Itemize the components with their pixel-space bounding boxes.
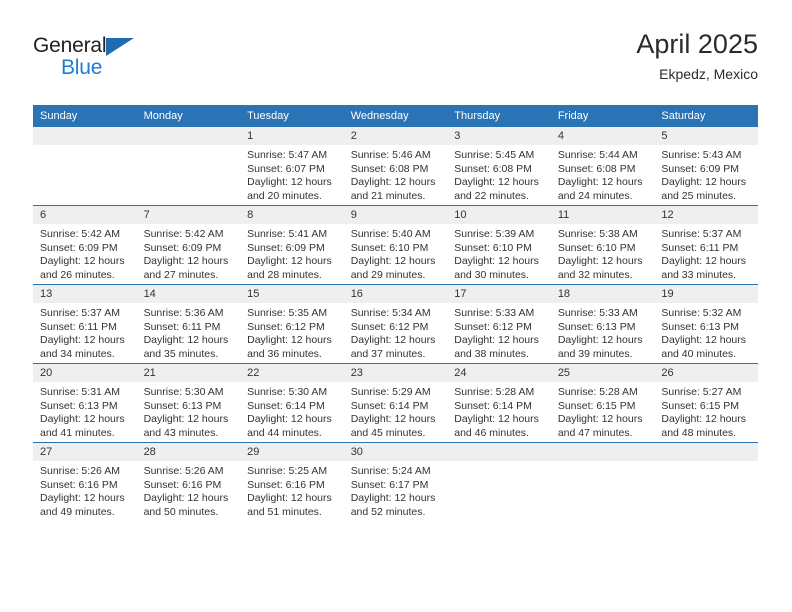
calendar-day-cell[interactable]: 7Sunrise: 5:42 AMSunset: 6:09 PMDaylight… (137, 206, 241, 285)
daylight-text: Daylight: 12 hours and 33 minutes. (661, 255, 753, 282)
calendar-day-cell[interactable]: 27Sunrise: 5:26 AMSunset: 6:16 PMDayligh… (33, 443, 137, 522)
calendar-day-cell[interactable]: 3Sunrise: 5:45 AMSunset: 6:08 PMDaylight… (447, 127, 551, 206)
sunset-text: Sunset: 6:11 PM (144, 321, 236, 335)
calendar-header-row: Sunday Monday Tuesday Wednesday Thursday… (33, 105, 758, 127)
sunset-text: Sunset: 6:13 PM (558, 321, 650, 335)
sunrise-text: Sunrise: 5:27 AM (661, 386, 753, 400)
day-number: 8 (240, 206, 344, 224)
day-details: Sunrise: 5:42 AMSunset: 6:09 PMDaylight:… (137, 224, 241, 282)
calendar-day-cell[interactable]: 18Sunrise: 5:33 AMSunset: 6:13 PMDayligh… (551, 285, 655, 364)
day-details: Sunrise: 5:43 AMSunset: 6:09 PMDaylight:… (654, 145, 758, 203)
calendar-day-cell[interactable]: 21Sunrise: 5:30 AMSunset: 6:13 PMDayligh… (137, 364, 241, 443)
calendar-day-cell[interactable]: 25Sunrise: 5:28 AMSunset: 6:15 PMDayligh… (551, 364, 655, 443)
day-number (33, 127, 137, 145)
day-details: Sunrise: 5:34 AMSunset: 6:12 PMDaylight:… (344, 303, 448, 361)
calendar-day-cell[interactable]: 17Sunrise: 5:33 AMSunset: 6:12 PMDayligh… (447, 285, 551, 364)
weekday-header-thursday: Thursday (447, 105, 551, 127)
day-number (137, 127, 241, 145)
day-number: 19 (654, 285, 758, 303)
sunrise-text: Sunrise: 5:33 AM (454, 307, 546, 321)
sunset-text: Sunset: 6:10 PM (558, 242, 650, 256)
day-details: Sunrise: 5:27 AMSunset: 6:15 PMDaylight:… (654, 382, 758, 440)
sunset-text: Sunset: 6:14 PM (247, 400, 339, 414)
sunset-text: Sunset: 6:11 PM (40, 321, 132, 335)
daylight-text: Daylight: 12 hours and 20 minutes. (247, 176, 339, 203)
day-number: 9 (344, 206, 448, 224)
weekday-header-row: Sunday Monday Tuesday Wednesday Thursday… (33, 105, 758, 127)
day-number: 7 (137, 206, 241, 224)
logo-text-general: General (33, 34, 106, 58)
daylight-text: Daylight: 12 hours and 38 minutes. (454, 334, 546, 361)
daylight-text: Daylight: 12 hours and 36 minutes. (247, 334, 339, 361)
daylight-text: Daylight: 12 hours and 34 minutes. (40, 334, 132, 361)
day-details: Sunrise: 5:46 AMSunset: 6:08 PMDaylight:… (344, 145, 448, 203)
daylight-text: Daylight: 12 hours and 41 minutes. (40, 413, 132, 440)
calendar-day-cell[interactable]: 1Sunrise: 5:47 AMSunset: 6:07 PMDaylight… (240, 127, 344, 206)
day-details: Sunrise: 5:45 AMSunset: 6:08 PMDaylight:… (447, 145, 551, 203)
daylight-text: Daylight: 12 hours and 43 minutes. (144, 413, 236, 440)
sunrise-text: Sunrise: 5:35 AM (247, 307, 339, 321)
day-number: 22 (240, 364, 344, 382)
daylight-text: Daylight: 12 hours and 46 minutes. (454, 413, 546, 440)
day-details: Sunrise: 5:36 AMSunset: 6:11 PMDaylight:… (137, 303, 241, 361)
logo-triangle-icon (106, 38, 134, 56)
daylight-text: Daylight: 12 hours and 51 minutes. (247, 492, 339, 519)
sunset-text: Sunset: 6:17 PM (351, 479, 443, 493)
daylight-text: Daylight: 12 hours and 37 minutes. (351, 334, 443, 361)
sunrise-text: Sunrise: 5:32 AM (661, 307, 753, 321)
daylight-text: Daylight: 12 hours and 29 minutes. (351, 255, 443, 282)
sunset-text: Sunset: 6:10 PM (351, 242, 443, 256)
day-details: Sunrise: 5:42 AMSunset: 6:09 PMDaylight:… (33, 224, 137, 282)
sunrise-text: Sunrise: 5:37 AM (661, 228, 753, 242)
day-number (447, 443, 551, 461)
calendar-day-cell-empty (33, 127, 137, 206)
daylight-text: Daylight: 12 hours and 47 minutes. (558, 413, 650, 440)
day-number: 5 (654, 127, 758, 145)
sunrise-text: Sunrise: 5:31 AM (40, 386, 132, 400)
day-number: 13 (33, 285, 137, 303)
daylight-text: Daylight: 12 hours and 49 minutes. (40, 492, 132, 519)
calendar-week-row: 6Sunrise: 5:42 AMSunset: 6:09 PMDaylight… (33, 206, 758, 285)
day-number: 10 (447, 206, 551, 224)
day-details: Sunrise: 5:32 AMSunset: 6:13 PMDaylight:… (654, 303, 758, 361)
calendar-day-cell[interactable]: 28Sunrise: 5:26 AMSunset: 6:16 PMDayligh… (137, 443, 241, 522)
day-number: 1 (240, 127, 344, 145)
sunset-text: Sunset: 6:09 PM (40, 242, 132, 256)
day-number (551, 443, 655, 461)
day-details: Sunrise: 5:30 AMSunset: 6:14 PMDaylight:… (240, 382, 344, 440)
day-details: Sunrise: 5:29 AMSunset: 6:14 PMDaylight:… (344, 382, 448, 440)
daylight-text: Daylight: 12 hours and 30 minutes. (454, 255, 546, 282)
day-number: 29 (240, 443, 344, 461)
day-number: 27 (33, 443, 137, 461)
daylight-text: Daylight: 12 hours and 45 minutes. (351, 413, 443, 440)
sunrise-text: Sunrise: 5:41 AM (247, 228, 339, 242)
sunset-text: Sunset: 6:08 PM (558, 163, 650, 177)
daylight-text: Daylight: 12 hours and 48 minutes. (661, 413, 753, 440)
daylight-text: Daylight: 12 hours and 25 minutes. (661, 176, 753, 203)
calendar-week-row: 27Sunrise: 5:26 AMSunset: 6:16 PMDayligh… (33, 443, 758, 522)
sunset-text: Sunset: 6:15 PM (661, 400, 753, 414)
sunrise-text: Sunrise: 5:24 AM (351, 465, 443, 479)
daylight-text: Daylight: 12 hours and 22 minutes. (454, 176, 546, 203)
day-details: Sunrise: 5:40 AMSunset: 6:10 PMDaylight:… (344, 224, 448, 282)
sunrise-text: Sunrise: 5:30 AM (247, 386, 339, 400)
day-number: 30 (344, 443, 448, 461)
generalblue-logo: General Blue (33, 34, 213, 86)
sunset-text: Sunset: 6:13 PM (40, 400, 132, 414)
calendar-day-cell[interactable]: 15Sunrise: 5:35 AMSunset: 6:12 PMDayligh… (240, 285, 344, 364)
calendar-day-cell[interactable]: 19Sunrise: 5:32 AMSunset: 6:13 PMDayligh… (654, 285, 758, 364)
calendar-day-cell[interactable]: 9Sunrise: 5:40 AMSunset: 6:10 PMDaylight… (344, 206, 448, 285)
sunset-text: Sunset: 6:16 PM (247, 479, 339, 493)
weekday-header-tuesday: Tuesday (240, 105, 344, 127)
calendar-day-cell[interactable]: 30Sunrise: 5:24 AMSunset: 6:17 PMDayligh… (344, 443, 448, 522)
daylight-text: Daylight: 12 hours and 28 minutes. (247, 255, 339, 282)
sunset-text: Sunset: 6:08 PM (351, 163, 443, 177)
day-details: Sunrise: 5:24 AMSunset: 6:17 PMDaylight:… (344, 461, 448, 519)
day-details: Sunrise: 5:33 AMSunset: 6:13 PMDaylight:… (551, 303, 655, 361)
day-number: 6 (33, 206, 137, 224)
sunrise-text: Sunrise: 5:42 AM (144, 228, 236, 242)
sunset-text: Sunset: 6:12 PM (247, 321, 339, 335)
calendar-week-row: 1Sunrise: 5:47 AMSunset: 6:07 PMDaylight… (33, 127, 758, 206)
day-number: 14 (137, 285, 241, 303)
day-details: Sunrise: 5:37 AMSunset: 6:11 PMDaylight:… (654, 224, 758, 282)
daylight-text: Daylight: 12 hours and 32 minutes. (558, 255, 650, 282)
calendar-day-cell-empty (551, 443, 655, 522)
sunrise-text: Sunrise: 5:44 AM (558, 149, 650, 163)
weekday-header-saturday: Saturday (654, 105, 758, 127)
day-number: 12 (654, 206, 758, 224)
sunset-text: Sunset: 6:09 PM (661, 163, 753, 177)
day-details: Sunrise: 5:41 AMSunset: 6:09 PMDaylight:… (240, 224, 344, 282)
daylight-text: Daylight: 12 hours and 40 minutes. (661, 334, 753, 361)
calendar-day-cell[interactable]: 8Sunrise: 5:41 AMSunset: 6:09 PMDaylight… (240, 206, 344, 285)
sunrise-text: Sunrise: 5:29 AM (351, 386, 443, 400)
daylight-text: Daylight: 12 hours and 27 minutes. (144, 255, 236, 282)
day-number: 3 (447, 127, 551, 145)
calendar-day-cell[interactable]: 5Sunrise: 5:43 AMSunset: 6:09 PMDaylight… (654, 127, 758, 206)
day-number: 21 (137, 364, 241, 382)
day-number: 4 (551, 127, 655, 145)
page-header: General Blue April 2025 Ekpedz, Mexico (33, 28, 758, 96)
sunset-text: Sunset: 6:16 PM (144, 479, 236, 493)
calendar-day-cell[interactable]: 24Sunrise: 5:28 AMSunset: 6:14 PMDayligh… (447, 364, 551, 443)
sunset-text: Sunset: 6:15 PM (558, 400, 650, 414)
calendar-table: Sunday Monday Tuesday Wednesday Thursday… (33, 105, 758, 521)
day-number: 23 (344, 364, 448, 382)
sunrise-text: Sunrise: 5:36 AM (144, 307, 236, 321)
day-details: Sunrise: 5:47 AMSunset: 6:07 PMDaylight:… (240, 145, 344, 203)
calendar-day-cell[interactable]: 26Sunrise: 5:27 AMSunset: 6:15 PMDayligh… (654, 364, 758, 443)
daylight-text: Daylight: 12 hours and 39 minutes. (558, 334, 650, 361)
calendar-day-cell[interactable]: 23Sunrise: 5:29 AMSunset: 6:14 PMDayligh… (344, 364, 448, 443)
calendar-body: 1Sunrise: 5:47 AMSunset: 6:07 PMDaylight… (33, 127, 758, 521)
sunrise-text: Sunrise: 5:28 AM (558, 386, 650, 400)
sunrise-text: Sunrise: 5:38 AM (558, 228, 650, 242)
sunset-text: Sunset: 6:09 PM (247, 242, 339, 256)
calendar-day-cell[interactable]: 11Sunrise: 5:38 AMSunset: 6:10 PMDayligh… (551, 206, 655, 285)
day-details: Sunrise: 5:33 AMSunset: 6:12 PMDaylight:… (447, 303, 551, 361)
daylight-text: Daylight: 12 hours and 35 minutes. (144, 334, 236, 361)
day-number: 24 (447, 364, 551, 382)
sunrise-text: Sunrise: 5:33 AM (558, 307, 650, 321)
day-details: Sunrise: 5:38 AMSunset: 6:10 PMDaylight:… (551, 224, 655, 282)
sunrise-text: Sunrise: 5:25 AM (247, 465, 339, 479)
day-details: Sunrise: 5:35 AMSunset: 6:12 PMDaylight:… (240, 303, 344, 361)
day-number: 18 (551, 285, 655, 303)
sunset-text: Sunset: 6:14 PM (454, 400, 546, 414)
weekday-header-friday: Friday (551, 105, 655, 127)
weekday-header-monday: Monday (137, 105, 241, 127)
sunrise-text: Sunrise: 5:47 AM (247, 149, 339, 163)
sunrise-text: Sunrise: 5:26 AM (144, 465, 236, 479)
calendar-day-cell[interactable]: 16Sunrise: 5:34 AMSunset: 6:12 PMDayligh… (344, 285, 448, 364)
day-number: 16 (344, 285, 448, 303)
calendar-week-row: 13Sunrise: 5:37 AMSunset: 6:11 PMDayligh… (33, 285, 758, 364)
day-number: 2 (344, 127, 448, 145)
day-details: Sunrise: 5:26 AMSunset: 6:16 PMDaylight:… (33, 461, 137, 519)
calendar-day-cell[interactable]: 29Sunrise: 5:25 AMSunset: 6:16 PMDayligh… (240, 443, 344, 522)
sunrise-text: Sunrise: 5:45 AM (454, 149, 546, 163)
calendar-day-cell-empty (447, 443, 551, 522)
day-details: Sunrise: 5:37 AMSunset: 6:11 PMDaylight:… (33, 303, 137, 361)
day-details: Sunrise: 5:26 AMSunset: 6:16 PMDaylight:… (137, 461, 241, 519)
day-number: 25 (551, 364, 655, 382)
calendar-week-row: 20Sunrise: 5:31 AMSunset: 6:13 PMDayligh… (33, 364, 758, 443)
sunrise-text: Sunrise: 5:40 AM (351, 228, 443, 242)
day-details: Sunrise: 5:44 AMSunset: 6:08 PMDaylight:… (551, 145, 655, 203)
day-number: 20 (33, 364, 137, 382)
logo-text-blue: Blue (61, 56, 102, 80)
daylight-text: Daylight: 12 hours and 26 minutes. (40, 255, 132, 282)
calendar-day-cell-empty (137, 127, 241, 206)
sunrise-text: Sunrise: 5:42 AM (40, 228, 132, 242)
daylight-text: Daylight: 12 hours and 52 minutes. (351, 492, 443, 519)
sunrise-text: Sunrise: 5:46 AM (351, 149, 443, 163)
day-number: 17 (447, 285, 551, 303)
calendar-day-cell[interactable]: 6Sunrise: 5:42 AMSunset: 6:09 PMDaylight… (33, 206, 137, 285)
sunset-text: Sunset: 6:12 PM (454, 321, 546, 335)
calendar-day-cell[interactable]: 12Sunrise: 5:37 AMSunset: 6:11 PMDayligh… (654, 206, 758, 285)
sunset-text: Sunset: 6:13 PM (144, 400, 236, 414)
sunrise-text: Sunrise: 5:26 AM (40, 465, 132, 479)
day-details: Sunrise: 5:31 AMSunset: 6:13 PMDaylight:… (33, 382, 137, 440)
calendar-day-cell[interactable]: 2Sunrise: 5:46 AMSunset: 6:08 PMDaylight… (344, 127, 448, 206)
calendar-day-cell[interactable]: 14Sunrise: 5:36 AMSunset: 6:11 PMDayligh… (137, 285, 241, 364)
calendar-day-cell[interactable]: 13Sunrise: 5:37 AMSunset: 6:11 PMDayligh… (33, 285, 137, 364)
sunset-text: Sunset: 6:07 PM (247, 163, 339, 177)
day-details: Sunrise: 5:39 AMSunset: 6:10 PMDaylight:… (447, 224, 551, 282)
day-details: Sunrise: 5:30 AMSunset: 6:13 PMDaylight:… (137, 382, 241, 440)
page-subtitle: Ekpedz, Mexico (636, 64, 758, 85)
page-title: April 2025 (636, 28, 758, 61)
weekday-header-wednesday: Wednesday (344, 105, 448, 127)
daylight-text: Daylight: 12 hours and 50 minutes. (144, 492, 236, 519)
sunrise-text: Sunrise: 5:37 AM (40, 307, 132, 321)
sunset-text: Sunset: 6:10 PM (454, 242, 546, 256)
sunrise-text: Sunrise: 5:30 AM (144, 386, 236, 400)
day-details: Sunrise: 5:28 AMSunset: 6:14 PMDaylight:… (447, 382, 551, 440)
sunset-text: Sunset: 6:08 PM (454, 163, 546, 177)
day-number: 28 (137, 443, 241, 461)
sunrise-text: Sunrise: 5:28 AM (454, 386, 546, 400)
title-block: April 2025 Ekpedz, Mexico (636, 28, 758, 85)
day-number: 26 (654, 364, 758, 382)
day-number (654, 443, 758, 461)
sunset-text: Sunset: 6:12 PM (351, 321, 443, 335)
daylight-text: Daylight: 12 hours and 44 minutes. (247, 413, 339, 440)
calendar-page: General Blue April 2025 Ekpedz, Mexico S… (0, 0, 792, 612)
daylight-text: Daylight: 12 hours and 24 minutes. (558, 176, 650, 203)
day-details: Sunrise: 5:25 AMSunset: 6:16 PMDaylight:… (240, 461, 344, 519)
sunrise-text: Sunrise: 5:39 AM (454, 228, 546, 242)
calendar-day-cell[interactable]: 20Sunrise: 5:31 AMSunset: 6:13 PMDayligh… (33, 364, 137, 443)
day-details: Sunrise: 5:28 AMSunset: 6:15 PMDaylight:… (551, 382, 655, 440)
calendar-day-cell[interactable]: 22Sunrise: 5:30 AMSunset: 6:14 PMDayligh… (240, 364, 344, 443)
weekday-header-sunday: Sunday (33, 105, 137, 127)
sunset-text: Sunset: 6:13 PM (661, 321, 753, 335)
calendar-day-cell[interactable]: 10Sunrise: 5:39 AMSunset: 6:10 PMDayligh… (447, 206, 551, 285)
calendar-day-cell-empty (654, 443, 758, 522)
daylight-text: Daylight: 12 hours and 21 minutes. (351, 176, 443, 203)
sunset-text: Sunset: 6:11 PM (661, 242, 753, 256)
sunset-text: Sunset: 6:09 PM (144, 242, 236, 256)
day-number: 11 (551, 206, 655, 224)
sunset-text: Sunset: 6:16 PM (40, 479, 132, 493)
sunset-text: Sunset: 6:14 PM (351, 400, 443, 414)
sunrise-text: Sunrise: 5:34 AM (351, 307, 443, 321)
day-number: 15 (240, 285, 344, 303)
sunrise-text: Sunrise: 5:43 AM (661, 149, 753, 163)
calendar-day-cell[interactable]: 4Sunrise: 5:44 AMSunset: 6:08 PMDaylight… (551, 127, 655, 206)
